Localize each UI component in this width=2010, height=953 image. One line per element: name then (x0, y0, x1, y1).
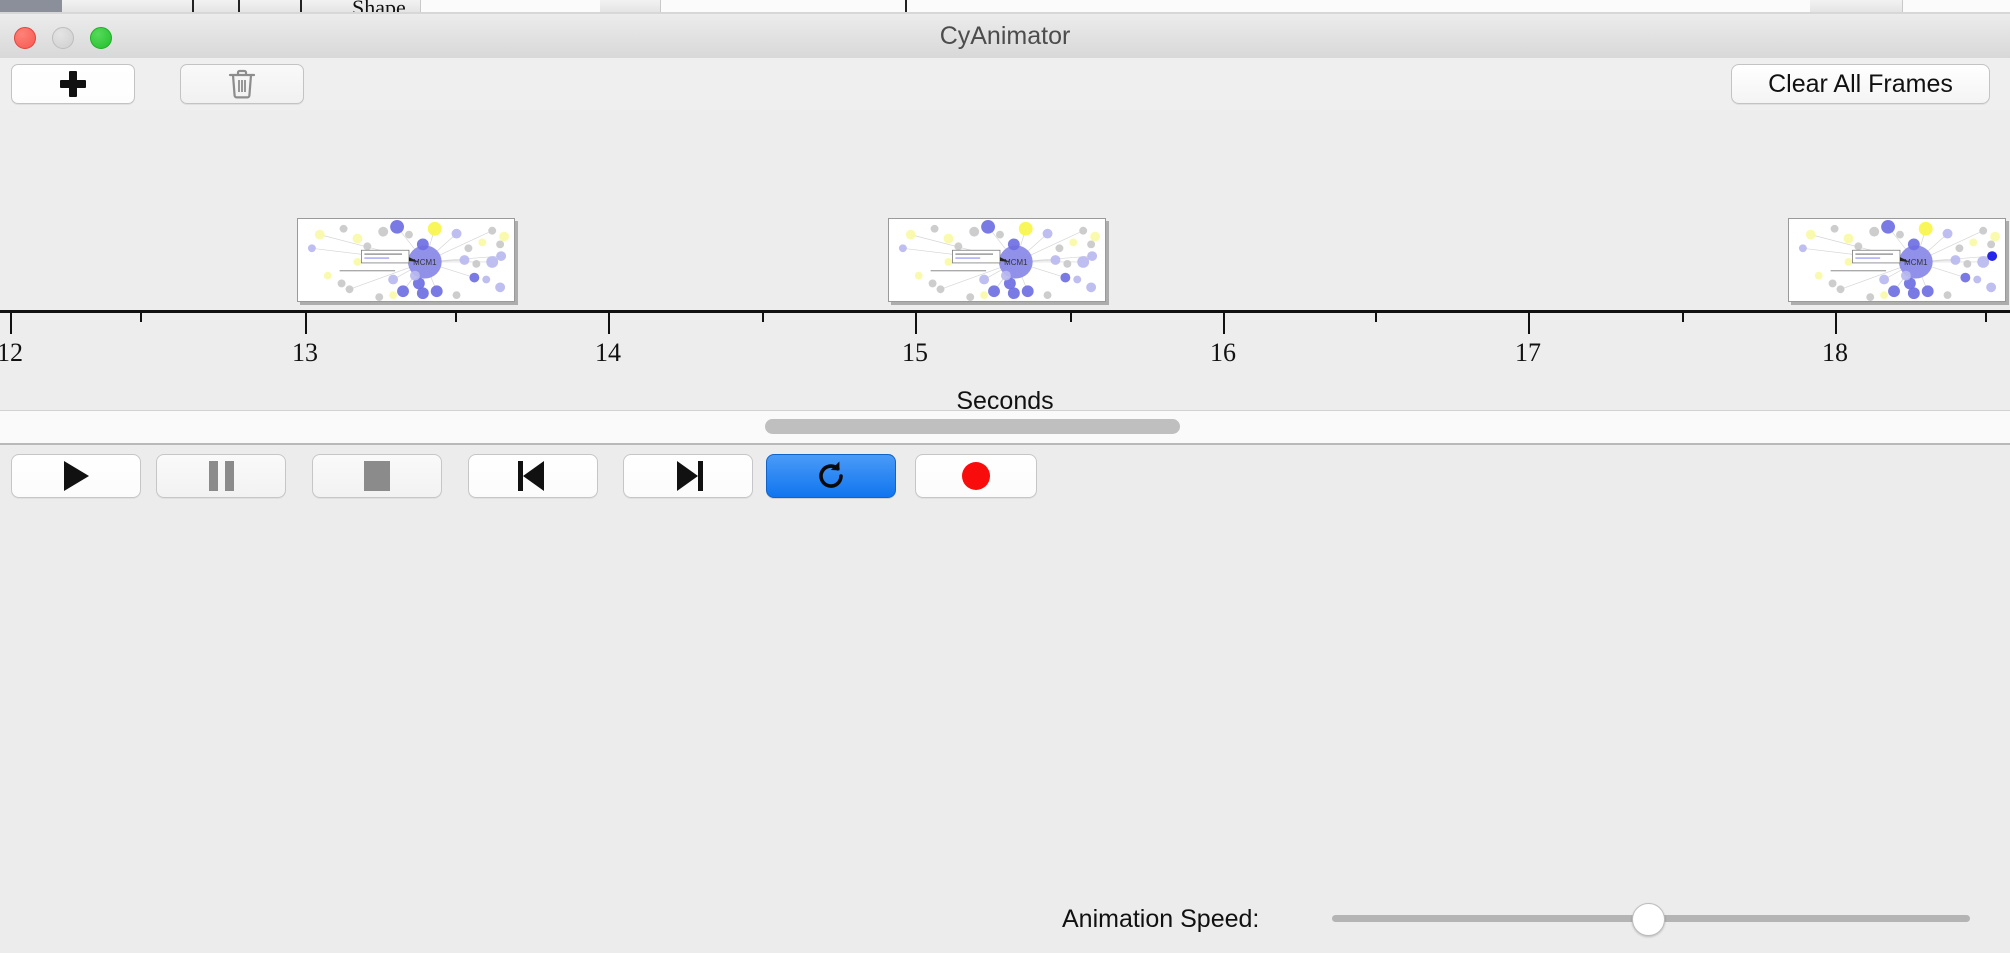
timeline-scrollbar[interactable] (0, 411, 2010, 444)
frame-toolbar: Clear All Frames (0, 58, 2010, 111)
axis-tick-major (915, 310, 917, 334)
axis-tick-label: 14 (595, 338, 621, 368)
axis-tick-minor (1070, 310, 1072, 322)
axis-tick-label: 17 (1515, 338, 1541, 368)
skip-end-icon (673, 461, 703, 491)
window-title: CyAnimator (0, 14, 2010, 58)
pause-icon (209, 461, 234, 491)
play-icon (64, 461, 89, 491)
svg-text:MCM1: MCM1 (413, 258, 436, 267)
loop-icon (814, 459, 848, 493)
timeline-frame-thumbnail[interactable]: MCM1 (888, 218, 1106, 302)
window-titlebar[interactable]: CyAnimator (0, 14, 2010, 59)
background-window-titlebar (0, 0, 62, 12)
record-icon (962, 462, 990, 490)
clear-all-frames-button[interactable]: Clear All Frames (1731, 64, 1990, 104)
timeline-frame-thumbnail[interactable]: MCM1 (1788, 218, 2006, 302)
axis-tick-major (1835, 310, 1837, 334)
axis-tick-label: 12 (0, 338, 23, 368)
add-frame-button[interactable] (11, 64, 135, 104)
svg-text:MCM1: MCM1 (1904, 258, 1927, 267)
axis-tick-major (1223, 310, 1225, 334)
delete-frame-button[interactable] (180, 64, 304, 104)
stop-icon (364, 461, 390, 491)
axis-tick-label: 15 (902, 338, 928, 368)
pause-button[interactable] (156, 454, 286, 498)
axis-tick-label: 18 (1822, 338, 1848, 368)
axis-tick-minor (455, 310, 457, 322)
axis-tick-label: 13 (292, 338, 318, 368)
axis-title: Seconds (0, 387, 2010, 411)
stop-button[interactable] (312, 454, 442, 498)
axis-tick-minor (1985, 310, 1987, 322)
axis-tick-minor (1375, 310, 1377, 322)
playback-toolbar: Animation Speed: (0, 443, 2010, 510)
axis-tick-major (305, 310, 307, 334)
timeline-frame-thumbnail[interactable]: MCM1 (297, 218, 515, 302)
axis-tick-minor (1682, 310, 1684, 322)
trash-icon (227, 68, 257, 100)
cyanimator-window: Shape CyAnimator Clear All Frames (0, 0, 2010, 510)
record-button[interactable] (915, 454, 1037, 498)
animation-speed-label: Animation Speed: (1062, 886, 1259, 953)
svg-text:MCM1: MCM1 (1004, 258, 1027, 267)
axis-tick-label: 16 (1210, 338, 1236, 368)
axis-tick-minor (140, 310, 142, 322)
loop-button[interactable] (766, 454, 896, 498)
plus-icon (60, 71, 86, 97)
axis-tick-major (608, 310, 610, 334)
axis-tick-major (1528, 310, 1530, 334)
axis-tick-major (10, 310, 12, 334)
skip-start-icon (518, 461, 548, 491)
play-button[interactable] (11, 454, 141, 498)
timeline-axis (0, 310, 2010, 313)
background-window-strip: Shape (0, 0, 2010, 14)
axis-tick-minor (762, 310, 764, 322)
skip-start-button[interactable] (468, 454, 598, 498)
skip-end-button[interactable] (623, 454, 753, 498)
timeline-panel[interactable]: MCM1 MCM1 MCM1 12131415161718 Seconds (0, 110, 2010, 411)
animation-speed-thumb[interactable] (1632, 903, 1665, 936)
scrollbar-thumb[interactable] (765, 419, 1180, 434)
